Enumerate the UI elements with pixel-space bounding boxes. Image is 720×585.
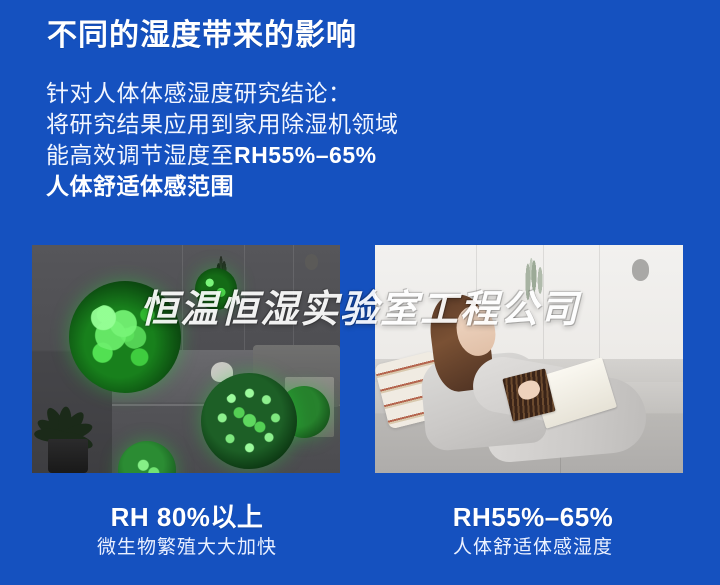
caption-subtitle: 微生物繁殖大大加快 bbox=[22, 534, 352, 562]
caption-title: RH 80%以上 bbox=[22, 500, 352, 534]
bacteria-cluster-icon bbox=[195, 268, 237, 310]
photo-row bbox=[0, 245, 720, 475]
intro-line-1: 针对人体体感湿度研究结论： bbox=[46, 78, 476, 109]
caption-comfort-humidity: RH55%–65% 人体舒适体感湿度 bbox=[368, 500, 698, 562]
light-room-scene bbox=[375, 245, 683, 473]
intro-line-3-emphasis: RH55%–65% bbox=[234, 142, 377, 168]
intro-line-3-prefix: 能高效调节湿度至 bbox=[46, 142, 234, 168]
page-title: 不同的湿度带来的影响 bbox=[47, 16, 357, 56]
potted-plant-icon bbox=[38, 395, 98, 473]
intro-line-3: 能高效调节湿度至RH55%–65% bbox=[46, 140, 476, 171]
wall-lamp-icon bbox=[305, 254, 318, 270]
caption-title: RH55%–65% bbox=[368, 500, 698, 534]
intro-paragraph: 针对人体体感湿度研究结论： 将研究结果应用到家用除湿机领域 能高效调节湿度至RH… bbox=[46, 78, 476, 202]
photo-comfort-humidity bbox=[375, 245, 683, 473]
wall-lamp-icon bbox=[632, 259, 649, 281]
dark-room-scene bbox=[32, 245, 340, 473]
virus-particle-icon bbox=[201, 373, 297, 469]
captions-row: RH 80%以上 微生物繁殖大大加快 RH55%–65% 人体舒适体感湿度 bbox=[0, 500, 720, 585]
plant-pot-icon bbox=[48, 439, 88, 473]
intro-line-4: 人体舒适体感范围 bbox=[46, 171, 476, 202]
bacteria-cluster-icon bbox=[69, 281, 181, 393]
caption-high-humidity: RH 80%以上 微生物繁殖大大加快 bbox=[22, 500, 352, 562]
book-icon bbox=[537, 367, 611, 419]
photo-high-humidity bbox=[32, 245, 340, 473]
humidity-infographic-poster: 不同的湿度带来的影响 针对人体体感湿度研究结论： 将研究结果应用到家用除湿机领域… bbox=[0, 0, 720, 585]
woman-reading-icon bbox=[418, 295, 646, 459]
caption-subtitle: 人体舒适体感湿度 bbox=[368, 534, 698, 562]
intro-line-2: 将研究结果应用到家用除湿机领域 bbox=[46, 109, 476, 140]
